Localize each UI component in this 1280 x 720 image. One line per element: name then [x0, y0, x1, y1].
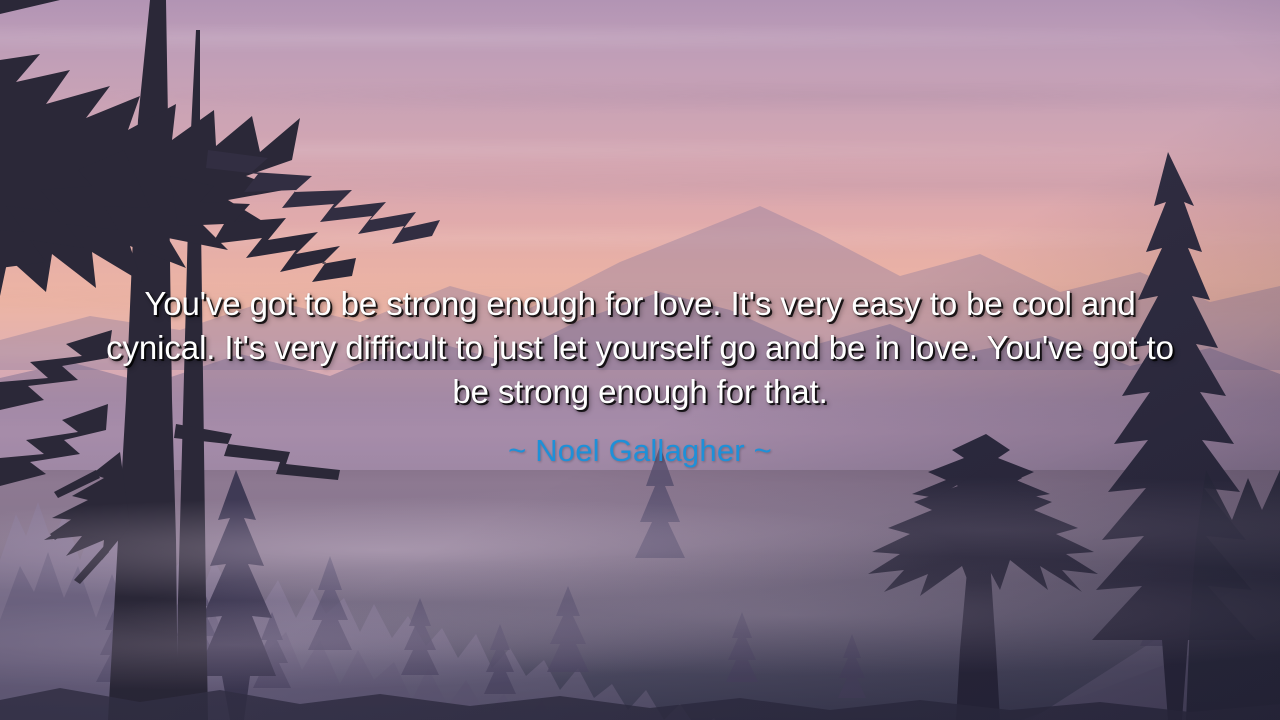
quote-author-attribution: ~ Noel Gallagher ~ — [508, 433, 772, 469]
quote-body-text: You've got to be strong enough for love.… — [93, 282, 1188, 414]
quote-image-canvas: You've got to be strong enough for love.… — [0, 0, 1280, 720]
quote-overlay: You've got to be strong enough for love.… — [0, 0, 1280, 720]
